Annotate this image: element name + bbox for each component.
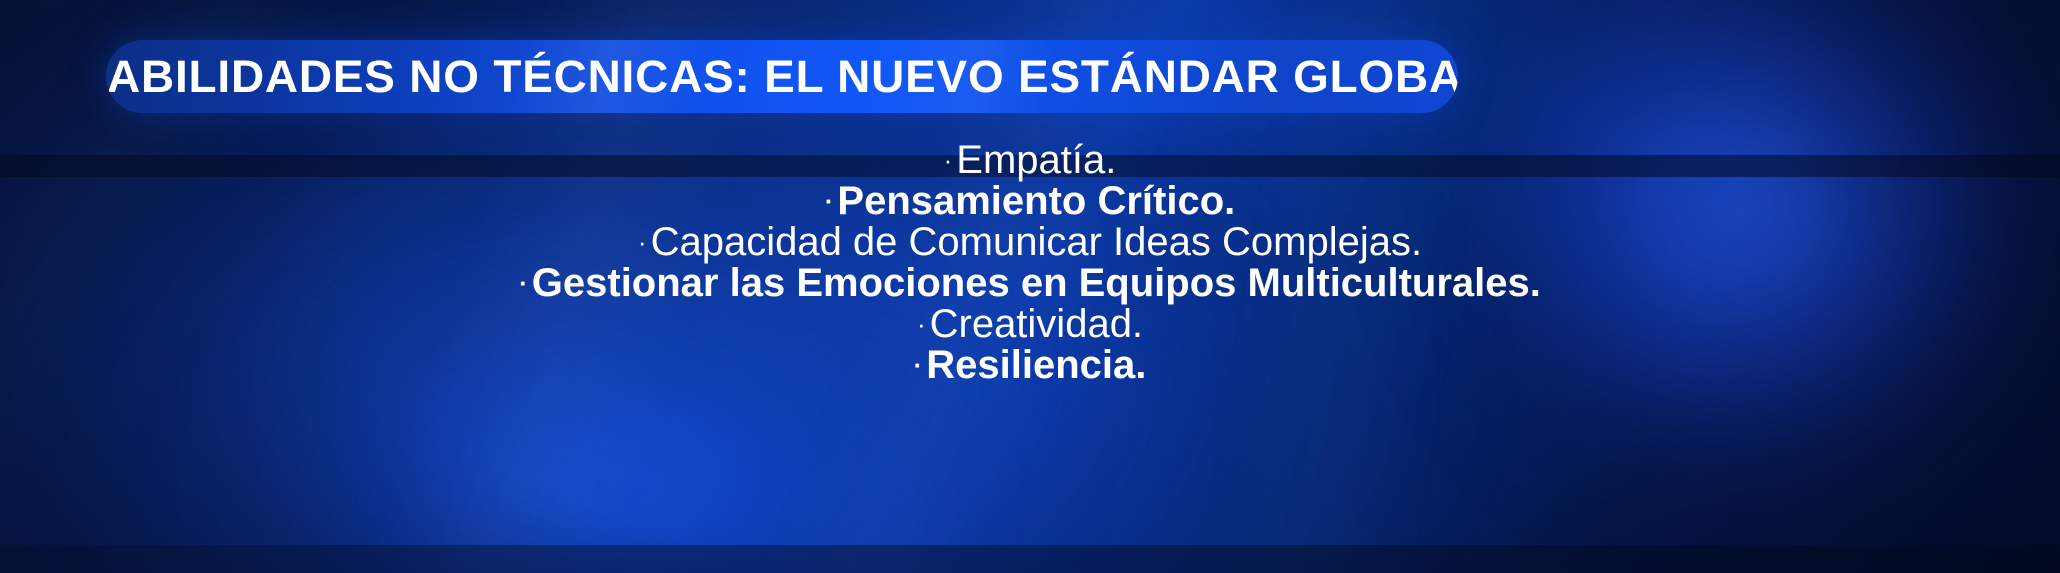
bullet-item-label: Empatía. bbox=[956, 138, 1116, 182]
bullet-item-label: Pensamiento Crítico. bbox=[837, 179, 1235, 223]
slide-canvas: HABILIDADES NO TÉCNICAS: EL NUEVO ESTÁND… bbox=[0, 0, 2060, 573]
background-lower-dark-band bbox=[0, 545, 2060, 573]
bullet-item-label: Creatividad. bbox=[930, 302, 1143, 346]
bullet-item: ·Resiliencia. bbox=[0, 345, 2060, 385]
bullet-item: ·Creatividad. bbox=[0, 304, 2060, 344]
page-title: HABILIDADES NO TÉCNICAS: EL NUEVO ESTÁND… bbox=[106, 54, 1458, 99]
bullet-item: ·Empatía. bbox=[0, 140, 2060, 180]
title-pill-banner: HABILIDADES NO TÉCNICAS: EL NUEVO ESTÁND… bbox=[106, 40, 1458, 113]
skills-bullet-list: ·Empatía.·Pensamiento Crítico.·Capacidad… bbox=[0, 140, 2060, 386]
bullet-marker-icon: · bbox=[519, 263, 528, 303]
bullet-marker-icon: · bbox=[944, 140, 953, 180]
bullet-marker-icon: · bbox=[638, 222, 647, 262]
bullet-item-label: Resiliencia. bbox=[926, 343, 1146, 387]
bullet-marker-icon: · bbox=[917, 304, 926, 344]
bullet-item: ·Gestionar las Emociones en Equipos Mult… bbox=[0, 263, 2060, 303]
bullet-item-label: Capacidad de Comunicar Ideas Complejas. bbox=[651, 220, 1423, 264]
bullet-marker-icon: · bbox=[914, 345, 923, 385]
bullet-item: ·Capacidad de Comunicar Ideas Complejas. bbox=[0, 222, 2060, 262]
bullet-marker-icon: · bbox=[825, 181, 834, 221]
bullet-item: ·Pensamiento Crítico. bbox=[0, 181, 2060, 221]
bullet-item-label: Gestionar las Emociones en Equipos Multi… bbox=[532, 261, 1541, 305]
